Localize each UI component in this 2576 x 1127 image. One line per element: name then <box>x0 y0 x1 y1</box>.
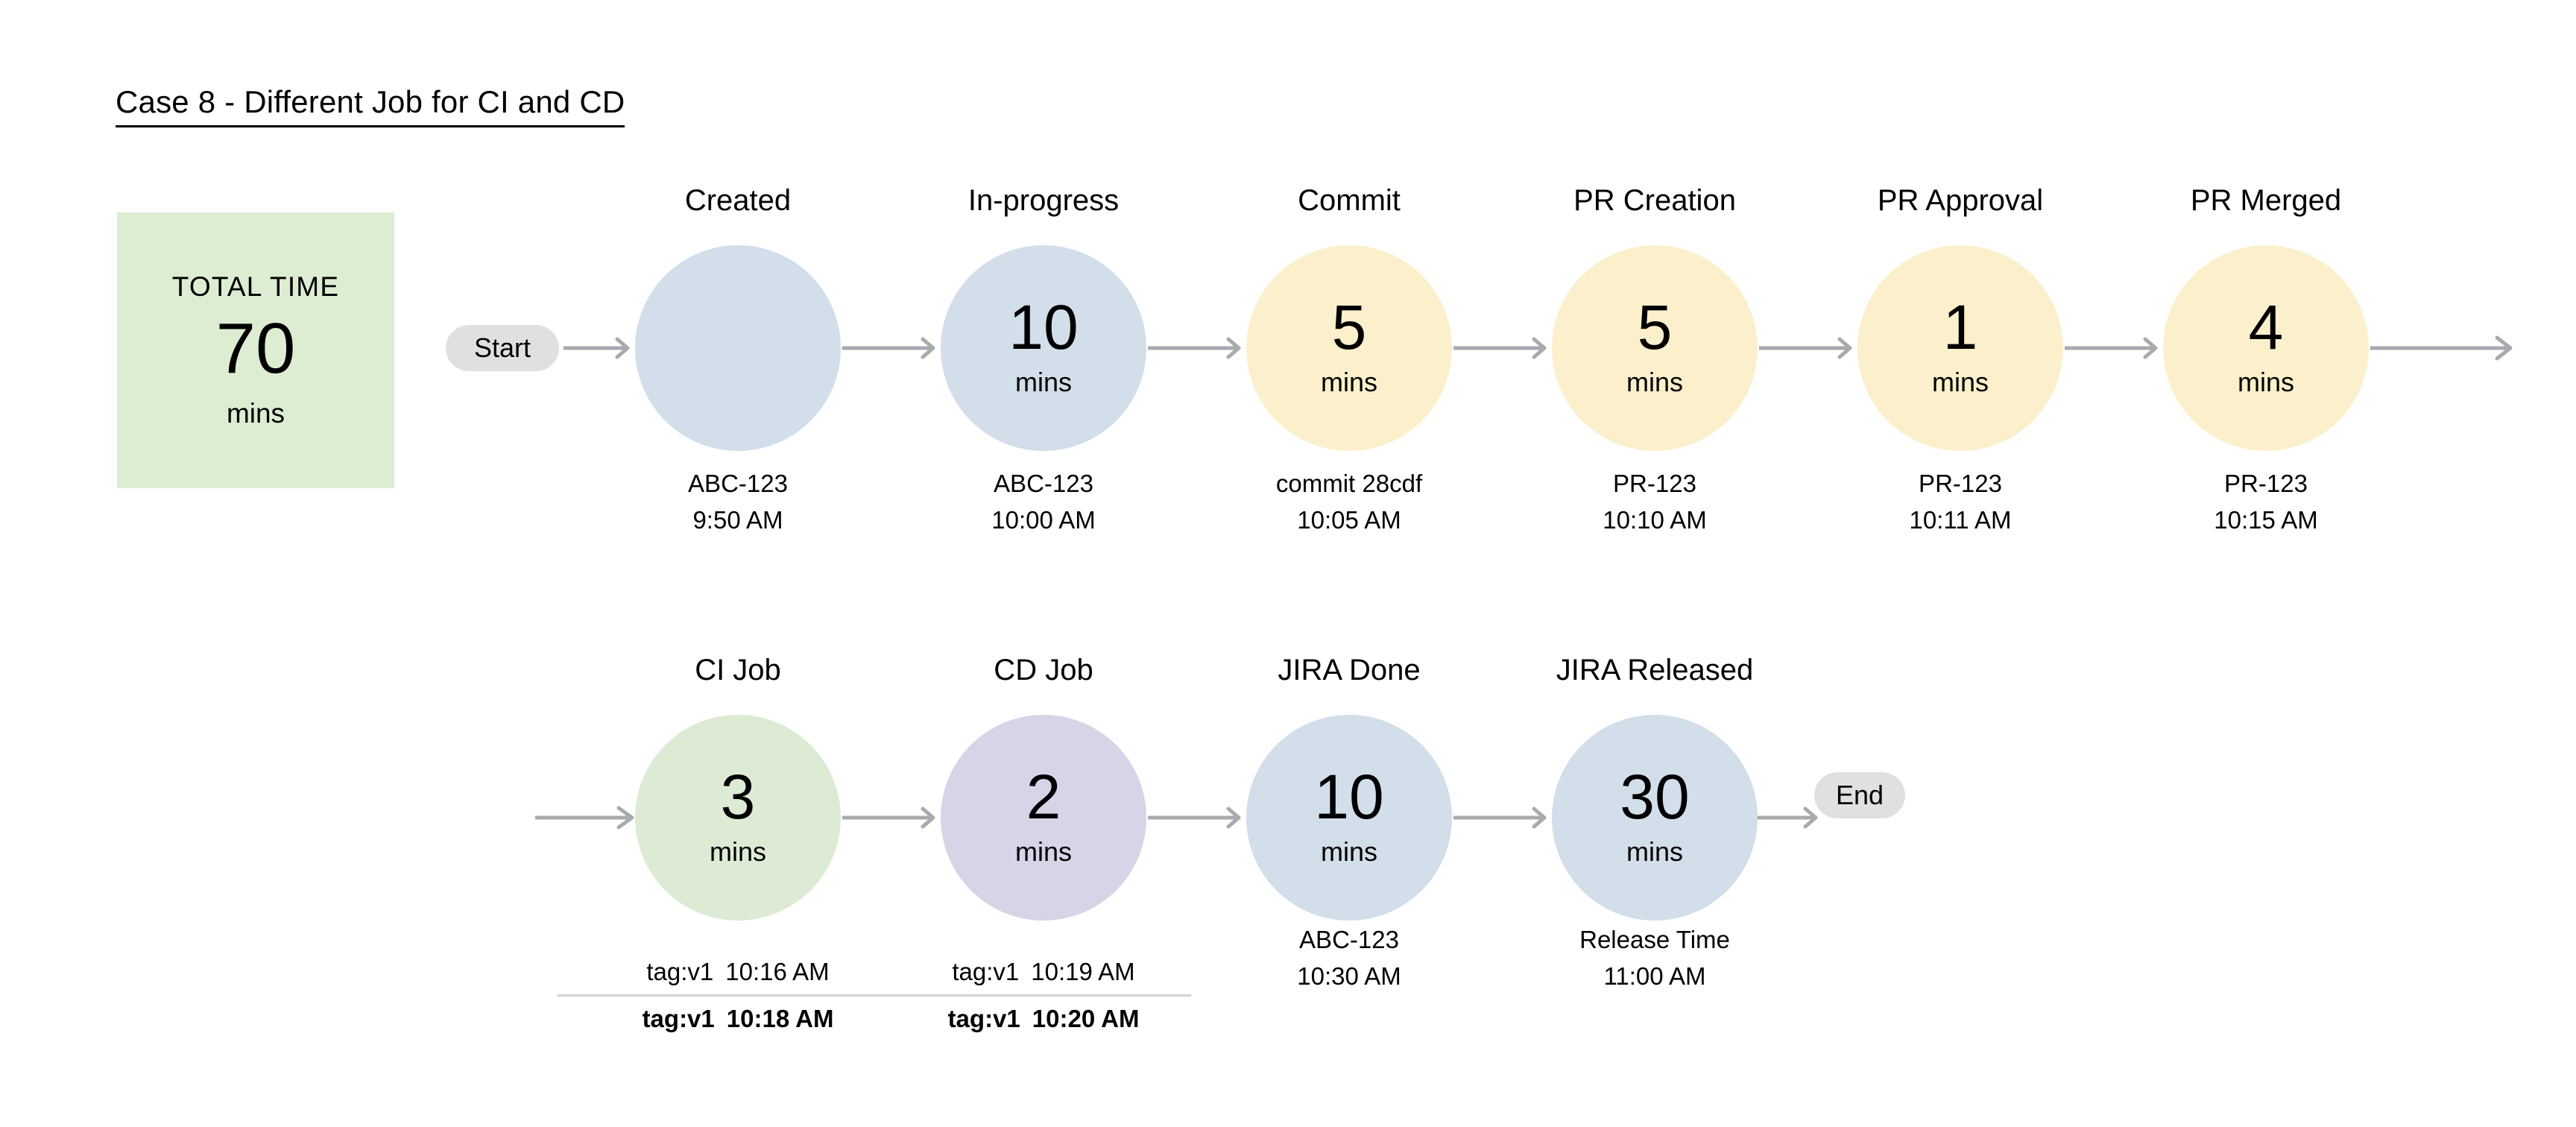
node-title: In-progress <box>968 184 1119 218</box>
total-time-label: TOTAL TIME <box>172 271 339 303</box>
node-meta-ref: Release Time <box>1579 922 1730 959</box>
tag-key: tag:v1 <box>952 958 1019 985</box>
node-value: 5 <box>1332 298 1367 358</box>
tag-row-cd-end: tag:v110:20 AM <box>948 1005 1140 1033</box>
node-unit: mins <box>1321 836 1377 868</box>
tag-time: 10:16 AM <box>725 958 829 985</box>
node-meta-time: 10:30 AM <box>1297 959 1401 995</box>
tag-row-ci-start: tag:v110:16 AM <box>646 958 829 986</box>
node-ci-job[interactable]: CI Job 3 mins <box>635 715 841 921</box>
node-title: Created <box>685 184 791 218</box>
node-meta: Release Time 11:00 AM <box>1579 922 1730 995</box>
tag-row-ci-end: tag:v110:18 AM <box>643 1005 834 1033</box>
node-bubble[interactable]: 4 mins <box>2163 245 2369 451</box>
tag-key: tag:v1 <box>646 958 713 985</box>
node-meta: ABC-123 10:00 AM <box>991 466 1095 539</box>
node-title: JIRA Released <box>1556 654 1754 687</box>
node-title: PR Merged <box>2191 184 2341 218</box>
node-title: CI Job <box>695 654 781 687</box>
arrow-created-to-inprogress <box>842 333 941 363</box>
node-meta: PR-123 10:10 AM <box>1603 466 1706 539</box>
node-meta: ABC-123 9:50 AM <box>688 466 788 539</box>
node-bubble[interactable]: 10 mins <box>941 245 1146 451</box>
node-value: 1 <box>1943 298 1978 358</box>
node-meta-time: 10:00 AM <box>991 502 1095 539</box>
node-value: 10 <box>1008 298 1078 358</box>
node-meta-time: 11:00 AM <box>1579 959 1730 995</box>
node-unit: mins <box>2238 367 2294 398</box>
node-meta: PR-123 10:11 AM <box>1910 466 2012 539</box>
node-jira-released[interactable]: JIRA Released 30 mins Release Time 11:00… <box>1552 715 1758 921</box>
node-meta-time: 9:50 AM <box>688 502 788 539</box>
total-time-unit: mins <box>227 398 285 429</box>
node-meta-ref: PR-123 <box>2214 466 2317 502</box>
node-meta: PR-123 10:15 AM <box>2214 466 2317 539</box>
tag-separator <box>558 994 1191 997</box>
node-commit[interactable]: Commit 5 mins commit 28cdf 10:05 AM <box>1246 245 1452 451</box>
node-value: 3 <box>721 768 756 827</box>
node-title: PR Creation <box>1573 184 1736 218</box>
start-pill[interactable]: Start <box>446 325 559 371</box>
node-title: CD Job <box>994 654 1093 687</box>
tag-key: tag:v1 <box>643 1005 715 1032</box>
arrow-cijob-to-cdjob <box>842 803 941 833</box>
node-unit: mins <box>1321 367 1377 398</box>
node-meta-ref: ABC-123 <box>1297 922 1401 959</box>
tag-time: 10:19 AM <box>1031 958 1134 985</box>
arrow-row2-wrap-in <box>535 803 640 833</box>
arrow-row1-wrap-out <box>2370 333 2519 363</box>
node-meta-time: 10:11 AM <box>1910 502 2012 539</box>
node-bubble[interactable]: 3 mins <box>635 715 841 921</box>
tag-key: tag:v1 <box>948 1005 1020 1032</box>
tag-time: 10:20 AM <box>1032 1005 1140 1032</box>
node-title: PR Approval <box>1878 184 2043 218</box>
total-time-card: TOTAL TIME 70 mins <box>117 212 394 488</box>
arrow-prcreation-to-prapproval <box>1759 333 1857 363</box>
node-unit: mins <box>710 836 766 868</box>
node-pr-approval[interactable]: PR Approval 1 mins PR-123 10:11 AM <box>1857 245 2063 451</box>
node-bubble[interactable]: 10 mins <box>1246 715 1452 921</box>
node-bubble[interactable]: 30 mins <box>1552 715 1758 921</box>
node-meta-ref: PR-123 <box>1603 466 1706 502</box>
node-bubble[interactable]: 2 mins <box>941 715 1146 921</box>
node-meta: commit 28cdf 10:05 AM <box>1276 466 1422 539</box>
tag-row-cd-start: tag:v110:19 AM <box>952 958 1134 986</box>
node-value: 10 <box>1314 768 1383 827</box>
node-bubble[interactable]: 5 mins <box>1246 245 1452 451</box>
node-meta-ref: PR-123 <box>1910 466 2012 502</box>
arrow-jiradone-to-jirareleased <box>1453 803 1552 833</box>
node-value: 5 <box>1638 298 1673 358</box>
node-pr-creation[interactable]: PR Creation 5 mins PR-123 10:10 AM <box>1552 245 1758 451</box>
node-unit: mins <box>1626 836 1683 868</box>
node-meta: ABC-123 10:30 AM <box>1297 922 1401 995</box>
node-bubble[interactable] <box>635 245 841 451</box>
node-meta-time: 10:05 AM <box>1276 502 1422 539</box>
node-pr-merged[interactable]: PR Merged 4 mins PR-123 10:15 AM <box>2163 245 2369 451</box>
node-unit: mins <box>1015 367 1072 398</box>
page-title: Case 8 - Different Job for CI and CD <box>116 83 625 127</box>
arrow-inprogress-to-commit <box>1148 333 1246 363</box>
node-title: Commit <box>1298 184 1401 218</box>
total-time-value: 70 <box>216 313 296 385</box>
node-value: 2 <box>1026 768 1061 827</box>
node-cd-job[interactable]: CD Job 2 mins <box>941 715 1146 921</box>
node-bubble[interactable]: 1 mins <box>1857 245 2063 451</box>
node-unit: mins <box>1015 836 1072 868</box>
node-unit: mins <box>1626 367 1683 398</box>
node-value: 30 <box>1620 768 1689 827</box>
node-unit: mins <box>1932 367 1989 398</box>
node-title: JIRA Done <box>1278 654 1420 687</box>
node-bubble[interactable]: 5 mins <box>1552 245 1758 451</box>
node-in-progress[interactable]: In-progress 10 mins ABC-123 10:00 AM <box>941 245 1146 451</box>
end-pill[interactable]: End <box>1814 772 1905 818</box>
node-meta-time: 10:10 AM <box>1603 502 1706 539</box>
node-created[interactable]: Created ABC-123 9:50 AM <box>635 245 841 451</box>
arrow-cdjob-to-jiradone <box>1148 803 1246 833</box>
node-value: 4 <box>2249 298 2284 358</box>
arrow-commit-to-prcreation <box>1453 333 1552 363</box>
node-jira-done[interactable]: JIRA Done 10 mins ABC-123 10:30 AM <box>1246 715 1452 921</box>
node-meta-ref: commit 28cdf <box>1276 466 1422 502</box>
node-meta-ref: ABC-123 <box>991 466 1095 502</box>
node-meta-ref: ABC-123 <box>688 466 788 502</box>
tag-time: 10:18 AM <box>727 1005 834 1032</box>
arrow-start-to-created <box>563 333 635 363</box>
node-meta-time: 10:15 AM <box>2214 502 2317 539</box>
arrow-prapproval-to-prmerged <box>2065 333 2163 363</box>
